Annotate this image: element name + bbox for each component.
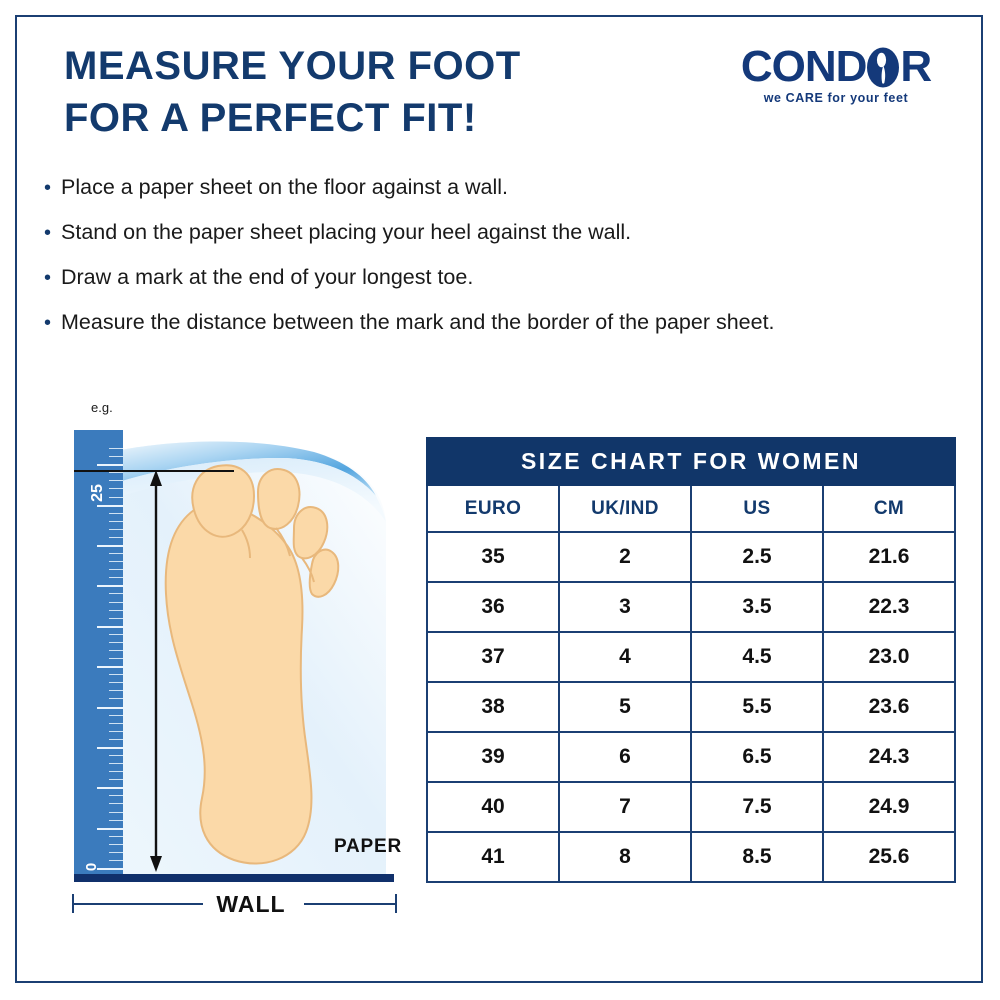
ruler-tick — [109, 755, 123, 756]
table-row: 41 8 8.5 25.6 — [427, 832, 955, 882]
table-title-row: SIZE CHART FOR WOMEN — [427, 438, 955, 485]
foot-length-dimension-arrow — [148, 470, 164, 872]
bullet-icon: • — [44, 263, 61, 293]
ruler-tick — [109, 795, 123, 796]
column-header-us: US — [691, 485, 823, 532]
example-label: e.g. — [91, 400, 113, 415]
cell-euro: 35 — [427, 532, 559, 582]
ruler-tick — [109, 852, 123, 853]
table-row: 36 3 3.5 22.3 — [427, 582, 955, 632]
ruler-tick — [109, 779, 123, 780]
condor-foot-icon — [866, 47, 900, 88]
ruler-tick — [97, 707, 123, 709]
ruler-tick — [109, 836, 123, 837]
instruction-text: Measure the distance between the mark an… — [61, 307, 944, 337]
ruler-tick — [97, 585, 123, 587]
ruler-tick — [109, 731, 123, 732]
cell-euro: 40 — [427, 782, 559, 832]
instruction-text: Draw a mark at the end of your longest t… — [61, 262, 944, 292]
ruler-tick — [109, 529, 123, 530]
ruler-tick — [109, 690, 123, 691]
ruler-tick — [109, 763, 123, 764]
ruler-tick — [109, 488, 123, 489]
list-item: • Measure the distance between the mark … — [44, 307, 944, 338]
column-header-cm: CM — [823, 485, 955, 532]
ruler-tick — [109, 658, 123, 659]
brand-logo: COND R we CARE for your feet — [720, 46, 952, 105]
cell-ukind: 3 — [559, 582, 691, 632]
ruler-tick — [97, 868, 123, 870]
ruler-tick — [109, 448, 123, 449]
page-title-line-1: MEASURE YOUR FOOT — [64, 40, 664, 92]
ruler-tick — [109, 456, 123, 457]
cell-euro: 36 — [427, 582, 559, 632]
cell-us: 7.5 — [691, 782, 823, 832]
ruler-tick — [109, 472, 123, 473]
ruler-tick — [109, 480, 123, 481]
cell-us: 2.5 — [691, 532, 823, 582]
table-row: 39 6 6.5 24.3 — [427, 732, 955, 782]
ruler-tick — [109, 739, 123, 740]
cell-cm: 22.3 — [823, 582, 955, 632]
ruler-tick — [97, 505, 123, 507]
list-item: • Stand on the paper sheet placing your … — [44, 217, 944, 248]
instruction-list: • Place a paper sheet on the floor again… — [44, 172, 944, 352]
ruler-tick — [109, 650, 123, 651]
paper-label: PAPER — [334, 836, 402, 858]
ruler-tick — [109, 860, 123, 861]
ruler-tick — [109, 602, 123, 603]
ruler-tick — [109, 715, 123, 716]
cell-us: 5.5 — [691, 682, 823, 732]
cell-euro: 41 — [427, 832, 559, 882]
ruler-illustration: 25 0 — [74, 430, 123, 877]
ruler-tick — [97, 666, 123, 668]
cell-cm: 25.6 — [823, 832, 955, 882]
ruler-tick — [109, 577, 123, 578]
list-item: • Draw a mark at the end of your longest… — [44, 262, 944, 293]
bullet-icon: • — [44, 308, 61, 338]
ruler-tick — [109, 537, 123, 538]
ruler-tick — [109, 610, 123, 611]
cell-euro: 39 — [427, 732, 559, 782]
ruler-tick — [109, 618, 123, 619]
wall-label: WALL — [196, 890, 306, 918]
size-guide-page: MEASURE YOUR FOOT FOR A PERFECT FIT! CON… — [0, 0, 1000, 1000]
cell-ukind: 4 — [559, 632, 691, 682]
cell-ukind: 7 — [559, 782, 691, 832]
table-row: 35 2 2.5 21.6 — [427, 532, 955, 582]
cell-ukind: 6 — [559, 732, 691, 782]
ruler-tick — [109, 513, 123, 514]
table-row: 38 5 5.5 23.6 — [427, 682, 955, 732]
table-row: 37 4 4.5 23.0 — [427, 632, 955, 682]
table-header-row: EURO UK/IND US CM — [427, 485, 955, 532]
size-chart-table: SIZE CHART FOR WOMEN EURO UK/IND US CM 3… — [426, 437, 956, 883]
ruler-tick — [109, 634, 123, 635]
list-item: • Place a paper sheet on the floor again… — [44, 172, 944, 203]
ruler-tick — [109, 698, 123, 699]
page-title-line-2: FOR A PERFECT FIT! — [64, 92, 664, 144]
wall-dimension-line: WALL — [72, 890, 397, 920]
cell-cm: 24.3 — [823, 732, 955, 782]
ruler-tick — [109, 812, 123, 813]
ruler-label-25: 25 — [87, 466, 109, 520]
cell-cm: 23.0 — [823, 632, 955, 682]
cell-cm: 21.6 — [823, 532, 955, 582]
ruler-tick — [97, 787, 123, 789]
cell-ukind: 5 — [559, 682, 691, 732]
logo-word-part-2: R — [900, 46, 931, 88]
ruler-tick — [109, 521, 123, 522]
ruler-tick — [109, 820, 123, 821]
cell-us: 3.5 — [691, 582, 823, 632]
ruler-tick — [109, 674, 123, 675]
instruction-text: Stand on the paper sheet placing your he… — [61, 217, 944, 247]
ruler-tick — [97, 464, 123, 466]
ruler-tick — [109, 771, 123, 772]
cell-us: 6.5 — [691, 732, 823, 782]
bullet-icon: • — [44, 218, 61, 248]
bullet-icon: • — [44, 173, 61, 203]
cell-cm: 24.9 — [823, 782, 955, 832]
table-row: 40 7 7.5 24.9 — [427, 782, 955, 832]
foot-measurement-diagram: e.g. — [60, 400, 410, 910]
ruler-tick — [109, 561, 123, 562]
ruler-tick — [97, 747, 123, 749]
ruler-tick — [109, 803, 123, 804]
wall-bar — [74, 874, 394, 882]
ruler-tick — [109, 642, 123, 643]
logo-wordmark: COND R — [720, 46, 952, 88]
foot-illustration — [150, 452, 340, 872]
dimension-line-left — [73, 903, 203, 905]
ruler-tick — [109, 553, 123, 554]
ruler-tick — [109, 682, 123, 683]
ruler-tick — [97, 545, 123, 547]
page-title: MEASURE YOUR FOOT FOR A PERFECT FIT! — [64, 40, 664, 144]
cell-cm: 23.6 — [823, 682, 955, 732]
cell-euro: 38 — [427, 682, 559, 732]
instruction-text: Place a paper sheet on the floor against… — [61, 172, 944, 202]
cell-ukind: 8 — [559, 832, 691, 882]
ruler-tick — [109, 569, 123, 570]
column-header-ukind: UK/IND — [559, 485, 691, 532]
dimension-line-right — [304, 903, 396, 905]
ruler-tick — [97, 626, 123, 628]
ruler-tick — [109, 844, 123, 845]
ruler-tick — [109, 723, 123, 724]
ruler-tick — [109, 593, 123, 594]
size-chart-body: 35 2 2.5 21.6 36 3 3.5 22.3 37 4 4.5 23.… — [427, 532, 955, 882]
ruler-tick — [109, 497, 123, 498]
column-header-euro: EURO — [427, 485, 559, 532]
size-chart-title: SIZE CHART FOR WOMEN — [427, 438, 955, 485]
cell-euro: 37 — [427, 632, 559, 682]
ruler-tick — [97, 828, 123, 830]
cell-ukind: 2 — [559, 532, 691, 582]
logo-tagline: we CARE for your feet — [720, 91, 952, 105]
ruler-label-0: 0 — [82, 845, 102, 889]
logo-word-part-1: COND — [741, 46, 867, 88]
cell-us: 4.5 — [691, 632, 823, 682]
cell-us: 8.5 — [691, 832, 823, 882]
